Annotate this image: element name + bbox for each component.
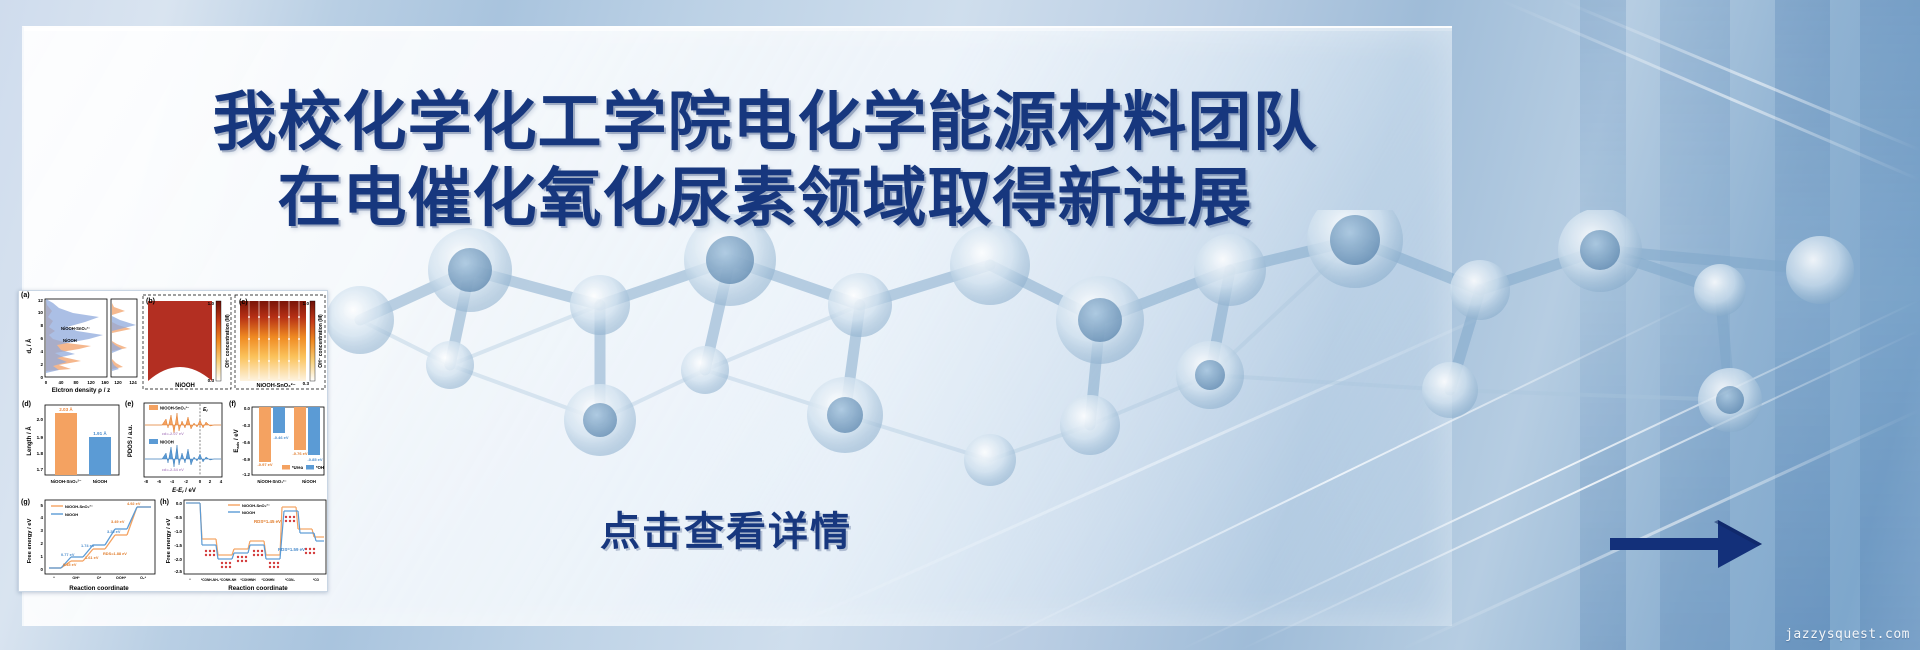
svg-text:OH⁻ concentration (M): OH⁻ concentration (M): [318, 314, 324, 368]
svg-text:0: 0: [199, 479, 202, 484]
svg-text:2.03 Å: 2.03 Å: [59, 406, 73, 412]
svg-text:-0.97 eV: -0.97 eV: [257, 462, 272, 467]
svg-text:RDS=1.88 eV: RDS=1.88 eV: [103, 551, 127, 556]
svg-text:120: 120: [114, 380, 122, 385]
figure-panel-d: (d) 2.03 Å 1.91 Å 1.71.8 1.92.0 NiOOH-Sn…: [19, 395, 122, 493]
svg-text:-0.5: -0.5: [175, 515, 183, 520]
svg-text:O₂*: O₂*: [140, 576, 147, 580]
svg-text:*: *: [189, 578, 191, 582]
svg-text:Free energy / eV: Free energy / eV: [166, 518, 172, 563]
svg-text:*CONH₂NH₂: *CONH₂NH₂: [201, 578, 220, 582]
svg-text:0.45 eV: 0.45 eV: [63, 562, 77, 567]
svg-text:PDOS / a.u.: PDOS / a.u.: [128, 424, 134, 457]
svg-text:3.25 eV: 3.25 eV: [107, 529, 121, 534]
svg-text:0.0: 0.0: [176, 501, 183, 506]
svg-text:1.8: 1.8: [37, 451, 44, 456]
svg-text:1.61 eV: 1.61 eV: [85, 555, 99, 560]
svg-text:2.0: 2.0: [37, 417, 44, 422]
svg-text:Length / Å: Length / Å: [26, 426, 33, 456]
svg-text:1.7: 1.7: [37, 467, 44, 472]
svg-text:*CONH₂NH: *CONH₂NH: [220, 578, 237, 582]
banner-title-line-2: 在电催化氧化尿素领域取得新进展: [0, 160, 1530, 236]
svg-text:-8: -8: [144, 479, 148, 484]
svg-text:4: 4: [41, 515, 44, 520]
svg-text:NiOOH: NiOOH: [302, 479, 316, 484]
svg-text:RDS=1.59 eV: RDS=1.59 eV: [278, 547, 305, 552]
svg-text:NiOOH: NiOOH: [160, 440, 174, 445]
svg-text:(g): (g): [21, 499, 30, 506]
svg-text:-1.0: -1.0: [175, 529, 183, 534]
figure-panel-e: (e) NiOOH-SnO₃²⁻ NiOOH Ef εd=-2.07 eV εd: [122, 395, 225, 493]
research-figure-thumbnail[interactable]: (a) 024 681012: [18, 290, 328, 592]
svg-text:1: 1: [41, 554, 44, 559]
svg-text:1.91 Å: 1.91 Å: [93, 430, 107, 436]
arrow-right-icon[interactable]: [1610, 512, 1810, 576]
svg-text:NiOOH: NiOOH: [93, 479, 107, 484]
svg-text:*CO: *CO: [313, 578, 320, 582]
svg-text:-0.9: -0.9: [242, 457, 250, 462]
svg-text:120: 120: [87, 380, 95, 385]
svg-text:4: 4: [220, 479, 223, 484]
banner-title-line-1: 我校化学化工学院电化学能源材料团队: [0, 84, 1530, 160]
panel-b-sample-label: NiOOH: [175, 383, 195, 389]
figure-panel-f: (f) -0.97 eV -0.46 eV -0.76 eV -0.85 eV …: [226, 395, 327, 493]
svg-text:RDS=1.45 eV: RDS=1.45 eV: [254, 519, 281, 524]
svg-text:*CONHN: *CONHN: [262, 578, 276, 582]
svg-text:-2: -2: [184, 479, 188, 484]
figure-panel-a: (a) 024 681012: [19, 291, 140, 395]
svg-text:*CONHNH: *CONHNH: [240, 578, 256, 582]
panel-a-tag: (a): [21, 292, 30, 299]
svg-text:NiOOH-SnO₃²⁻: NiOOH-SnO₃²⁻: [160, 406, 189, 411]
svg-text:5: 5: [41, 503, 44, 508]
svg-text:-0.85 eV: -0.85 eV: [307, 457, 322, 462]
svg-text:NiOOH-SnO₃²⁻: NiOOH-SnO₃²⁻: [61, 326, 90, 331]
svg-text:*CON₂: *CON₂: [285, 578, 295, 582]
svg-text:(d): (d): [22, 401, 31, 408]
svg-text:NiOOH: NiOOH: [242, 510, 255, 515]
svg-text:2: 2: [209, 479, 212, 484]
figure-panel-h: (h) NiOOH-SnO₃²⁻ NiOOH: [158, 493, 327, 592]
svg-text:1.9: 1.9: [37, 435, 44, 440]
svg-text:3: 3: [41, 528, 44, 533]
svg-text:NiOOH-SnO₃²⁻: NiOOH-SnO₃²⁻: [51, 479, 82, 484]
svg-text:8: 8: [40, 323, 43, 328]
watermark: jazzysquest.com: [1785, 627, 1910, 642]
cta-text[interactable]: 点击查看详情: [600, 508, 852, 556]
svg-text:(h): (h): [160, 499, 169, 506]
svg-text:-6: -6: [157, 479, 161, 484]
svg-text:0.3: 0.3: [208, 378, 215, 383]
svg-text:NiOOH-SnO₃²⁻: NiOOH-SnO₃²⁻: [242, 503, 270, 508]
svg-text:10: 10: [38, 310, 44, 315]
svg-text:1.0: 1.0: [208, 301, 215, 306]
svg-text:3.49 eV: 3.49 eV: [111, 519, 125, 524]
svg-text:dz / Å: dz / Å: [26, 338, 33, 354]
svg-text:124: 124: [129, 380, 137, 385]
svg-text:(c): (c): [239, 299, 248, 306]
svg-text:*: *: [53, 576, 55, 580]
svg-text:1.74 eV: 1.74 eV: [81, 543, 95, 548]
svg-text:OH*: OH*: [72, 576, 80, 580]
svg-text:Free energy / eV: Free energy / eV: [27, 518, 33, 563]
svg-text:4.92 eV: 4.92 eV: [127, 501, 141, 506]
svg-text:-0.6: -0.6: [242, 440, 250, 445]
svg-text:OOH*: OOH*: [116, 576, 127, 580]
svg-text:-0.3: -0.3: [242, 423, 250, 428]
figure-panel-b: NiOOH 1.0 0.3 OH⁻ concentration (M) (b): [140, 291, 233, 395]
svg-text:(f): (f): [229, 401, 236, 408]
svg-text:*Urea: *Urea: [292, 465, 304, 470]
svg-text:-2.0: -2.0: [175, 557, 183, 562]
svg-text:Reaction coordinate: Reaction coordinate: [228, 585, 288, 592]
banner-stage: 我校化学化工学院电化学能源材料团队 在电催化氧化尿素领域取得新进展 点击查看详情…: [0, 0, 1920, 650]
svg-text:-2.5: -2.5: [175, 569, 183, 574]
svg-text:OH⁻ concentration (M): OH⁻ concentration (M): [225, 314, 231, 368]
svg-text:NiOOH: NiOOH: [65, 512, 78, 517]
svg-text:2: 2: [40, 362, 43, 367]
svg-text:80: 80: [74, 380, 79, 385]
svg-text:(e): (e): [125, 401, 134, 408]
svg-text:Elctron density ρ / z: Elctron density ρ / z: [52, 387, 111, 394]
svg-text:2: 2: [41, 541, 44, 546]
panel-c-sample-label: NiOOH-SnO₃²⁻: [256, 382, 295, 389]
banner-title-block: 我校化学化工学院电化学能源材料团队 在电催化氧化尿素领域取得新进展: [0, 84, 1530, 236]
svg-text:Eads / eV: Eads / eV: [234, 429, 240, 452]
svg-text:-1.2: -1.2: [242, 472, 250, 477]
svg-text:12: 12: [38, 298, 44, 303]
svg-text:0: 0: [40, 375, 43, 380]
svg-text:(b): (b): [146, 298, 155, 305]
svg-text:6: 6: [40, 336, 43, 341]
svg-text:1.0: 1.0: [302, 301, 309, 306]
svg-text:0.0: 0.0: [244, 406, 251, 411]
svg-text:O*: O*: [97, 576, 102, 580]
svg-text:NiOOH-SnO₃²⁻: NiOOH-SnO₃²⁻: [65, 504, 93, 509]
svg-text:0.3: 0.3: [302, 381, 309, 386]
svg-text:εd=-2.07 eV: εd=-2.07 eV: [162, 431, 184, 436]
svg-text:Reaction coordinate: Reaction coordinate: [69, 585, 129, 592]
svg-text:0: 0: [41, 567, 44, 572]
svg-text:4: 4: [40, 349, 43, 354]
svg-text:0.77 eV: 0.77 eV: [61, 552, 75, 557]
svg-text:*OH: *OH: [316, 465, 324, 470]
svg-text:-1.5: -1.5: [175, 543, 183, 548]
svg-text:40: 40: [59, 380, 64, 385]
svg-text:-0.76 eV: -0.76 eV: [292, 451, 307, 456]
svg-text:0: 0: [45, 380, 48, 385]
svg-text:NiOOH: NiOOH: [63, 338, 77, 343]
figure-panel-g: (g) NiOOH-SnO₃²⁻ NiOOH: [19, 493, 158, 592]
svg-text:-4: -4: [170, 479, 174, 484]
svg-text:-0.46 eV: -0.46 eV: [273, 435, 288, 440]
figure-panel-c: NiOOH-SnO₃²⁻ 1.0 0.3 OH⁻ concentration (…: [234, 291, 327, 395]
svg-text:εd=-2.34 eV: εd=-2.34 eV: [162, 467, 184, 472]
svg-text:NiOOH-SnO₃²⁻: NiOOH-SnO₃²⁻: [257, 479, 286, 484]
svg-text:160: 160: [101, 380, 109, 385]
